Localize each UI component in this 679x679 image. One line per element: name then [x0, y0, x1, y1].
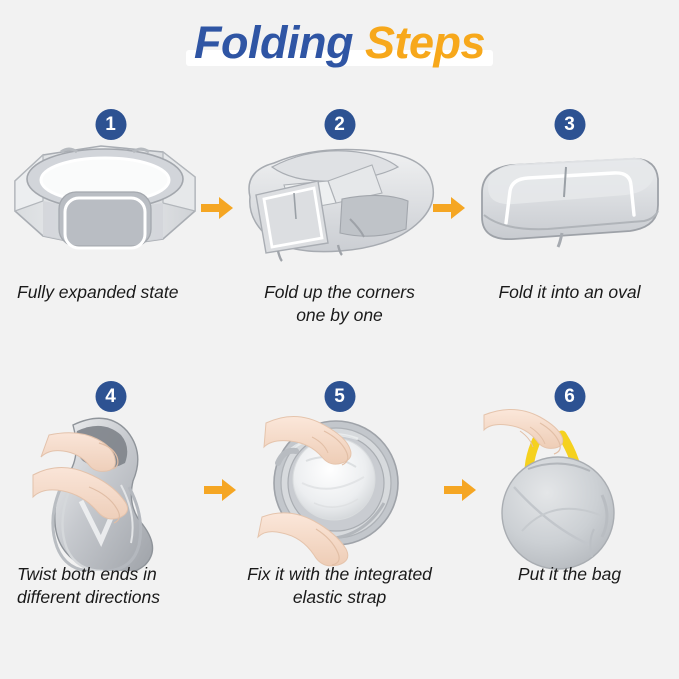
step-illustration-2 — [232, 119, 447, 274]
step-number-badge-4: 4 — [95, 381, 126, 412]
step-number-badge-6: 6 — [554, 381, 585, 412]
caption-line: elastic strap — [232, 586, 447, 609]
steps-row-top: 1 — [0, 95, 679, 367]
step-card-3: 3 — [462, 95, 677, 367]
step-number-badge-5: 5 — [324, 381, 355, 412]
step-illustration-5 — [232, 391, 447, 546]
caption-line: Fully expanded state — [17, 281, 218, 304]
step-caption-5: Fix it with the integrated elastic strap — [232, 563, 447, 609]
step-card-2: 2 — [232, 95, 447, 367]
page-title: Folding Steps — [0, 18, 679, 68]
caption-line: Fix it with the integrated — [232, 563, 447, 586]
step-card-4: 4 — [3, 367, 218, 657]
step-illustration-4 — [3, 391, 218, 546]
step-illustration-6 — [462, 391, 677, 546]
step-number-badge-1: 1 — [95, 109, 126, 140]
steps-row-bottom: 4 — [0, 367, 679, 657]
step-card-5: 5 — [232, 367, 447, 657]
caption-line: one by one — [232, 304, 447, 327]
caption-line: Fold it into an oval — [462, 281, 677, 304]
arrow-step4-to-step5 — [203, 477, 237, 503]
step-illustration-3 — [462, 119, 677, 274]
step-number-badge-3: 3 — [554, 109, 585, 140]
step-card-6: 6 — [462, 367, 677, 657]
step-caption-1: Fully expanded state — [3, 281, 218, 304]
arrow-step5-to-step6 — [443, 477, 477, 503]
caption-line: Twist both ends in — [17, 563, 218, 586]
step-caption-4: Twist both ends in different directions — [3, 563, 218, 609]
steps-grid: 1 — [0, 95, 679, 665]
caption-line: different directions — [17, 586, 218, 609]
caption-line: Put it the bag — [462, 563, 677, 586]
step-number-badge-2: 2 — [324, 109, 355, 140]
step-caption-2: Fold up the corners one by one — [232, 281, 447, 327]
arrow-step2-to-step3 — [432, 195, 466, 221]
title-word-folding: Folding — [194, 17, 353, 68]
step-illustration-1 — [3, 119, 218, 274]
title-word-steps: Steps — [365, 17, 485, 68]
step-card-1: 1 — [3, 95, 218, 367]
step-caption-6: Put it the bag — [462, 563, 677, 586]
caption-line: Fold up the corners — [232, 281, 447, 304]
step-caption-3: Fold it into an oval — [462, 281, 677, 304]
arrow-step1-to-step2 — [200, 195, 234, 221]
